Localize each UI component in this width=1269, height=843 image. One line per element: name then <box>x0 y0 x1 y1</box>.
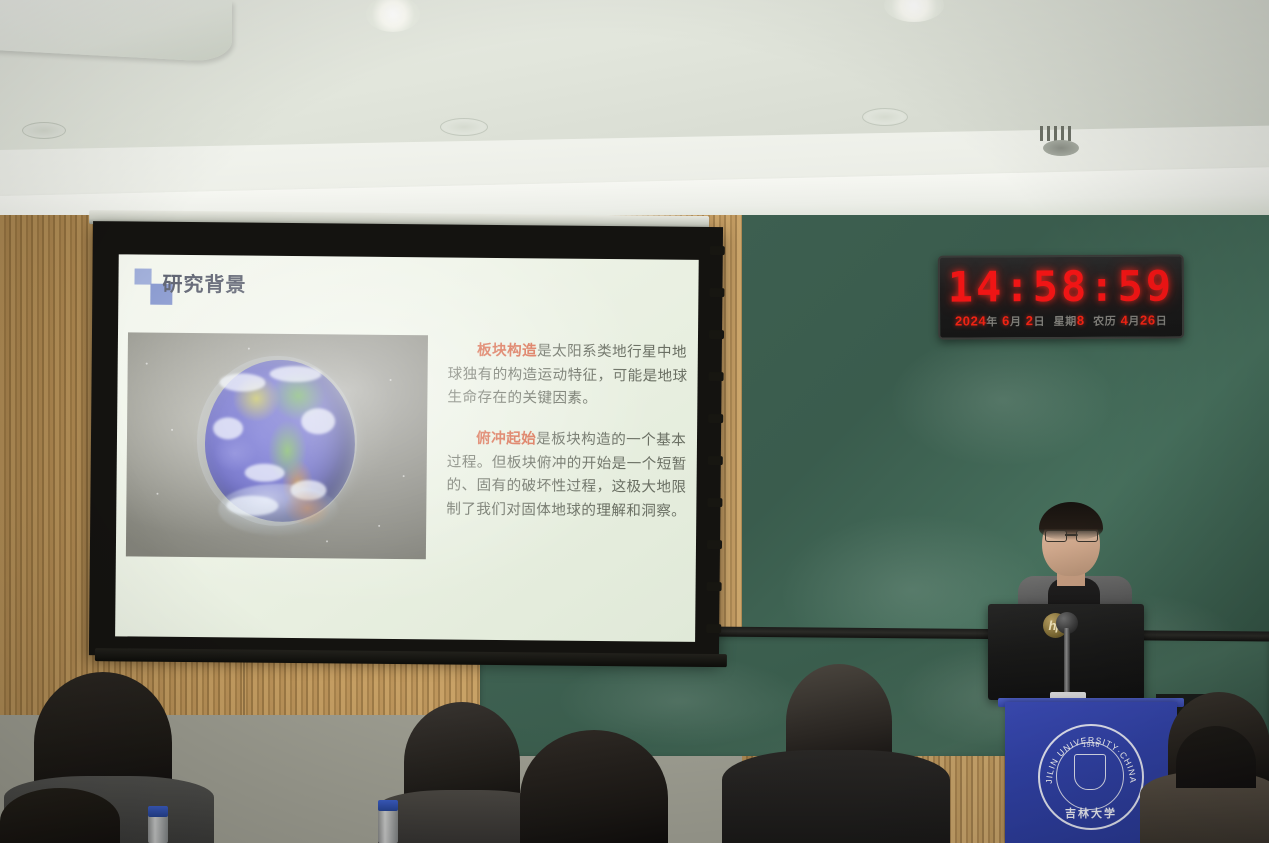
globe-ember <box>284 490 330 526</box>
ceiling-downlight <box>366 0 420 32</box>
slide-paragraph-2: 俯冲起始是板块构造的一个基本过程。但板块俯冲的开始是一个短暂的、固有的破坏性过程… <box>446 427 687 524</box>
projection-screen: 研究背景 <box>67 216 723 662</box>
accent-square-small <box>134 268 151 284</box>
water-bottle <box>378 806 398 843</box>
presenter-glasses <box>1045 530 1098 540</box>
slide-paragraph-1: 板块构造是太阳系类地行星中地球独有的构造运动特征，可能是地球生命存在的关键因素。 <box>447 340 688 413</box>
clock-year: 2024 <box>955 313 986 328</box>
seal-institution-cn: 吉林大学 <box>1040 805 1142 821</box>
clock-lunar-day: 26 <box>1140 313 1156 328</box>
clock-lunar-day-label: 日 <box>1156 315 1168 327</box>
seal-shield-icon <box>1074 754 1106 790</box>
audience-body <box>722 750 950 843</box>
ceiling-vent <box>862 108 908 126</box>
clock-lunar-month-label: 月 <box>1128 316 1140 328</box>
clock-week-value: 8 <box>1077 313 1085 328</box>
microphone-stem <box>1064 628 1070 698</box>
clock-lunar-label: 农历 <box>1093 316 1116 328</box>
digital-wall-clock: 14:58:59 2024年 6月 2日 星期8 农历 4月26日 <box>938 254 1184 339</box>
university-seal: JILIN UNIVERSITY·CHINA 1946 吉林大学 <box>1038 724 1144 830</box>
ceiling-vent <box>22 122 66 139</box>
clock-day-label: 日 <box>1034 316 1046 328</box>
slide-figure-earth <box>126 332 428 559</box>
ceiling-downlight <box>884 0 944 22</box>
clock-year-label: 年 <box>986 316 998 328</box>
ceiling-projector-unit <box>0 0 232 63</box>
clock-month-label: 月 <box>1010 316 1022 328</box>
ceiling-speaker <box>1043 140 1079 156</box>
projected-slide: 研究背景 <box>115 254 699 642</box>
clock-month: 6 <box>1002 313 1010 328</box>
lecture-hall-photo: 研究背景 <box>0 0 1269 843</box>
clock-date-display: 2024年 6月 2日 星期8 农历 4月26日 <box>940 312 1182 329</box>
water-bottle-cap <box>148 806 168 817</box>
slide-keyword-2: 俯冲起始 <box>476 431 536 448</box>
clock-time-display: 14:58:59 <box>940 261 1182 311</box>
water-bottle-cap <box>378 800 398 811</box>
clock-week-label: 星期 <box>1054 316 1077 328</box>
slide-title: 研究背景 <box>162 268 246 298</box>
ceiling-vent <box>440 118 488 136</box>
slide-body-text: 板块构造是太阳系类地行星中地球独有的构造运动特征，可能是地球生命存在的关键因素。… <box>446 340 688 542</box>
slide-keyword-1: 板块构造 <box>477 343 537 360</box>
seal-founded-year: 1946 <box>1040 742 1142 749</box>
